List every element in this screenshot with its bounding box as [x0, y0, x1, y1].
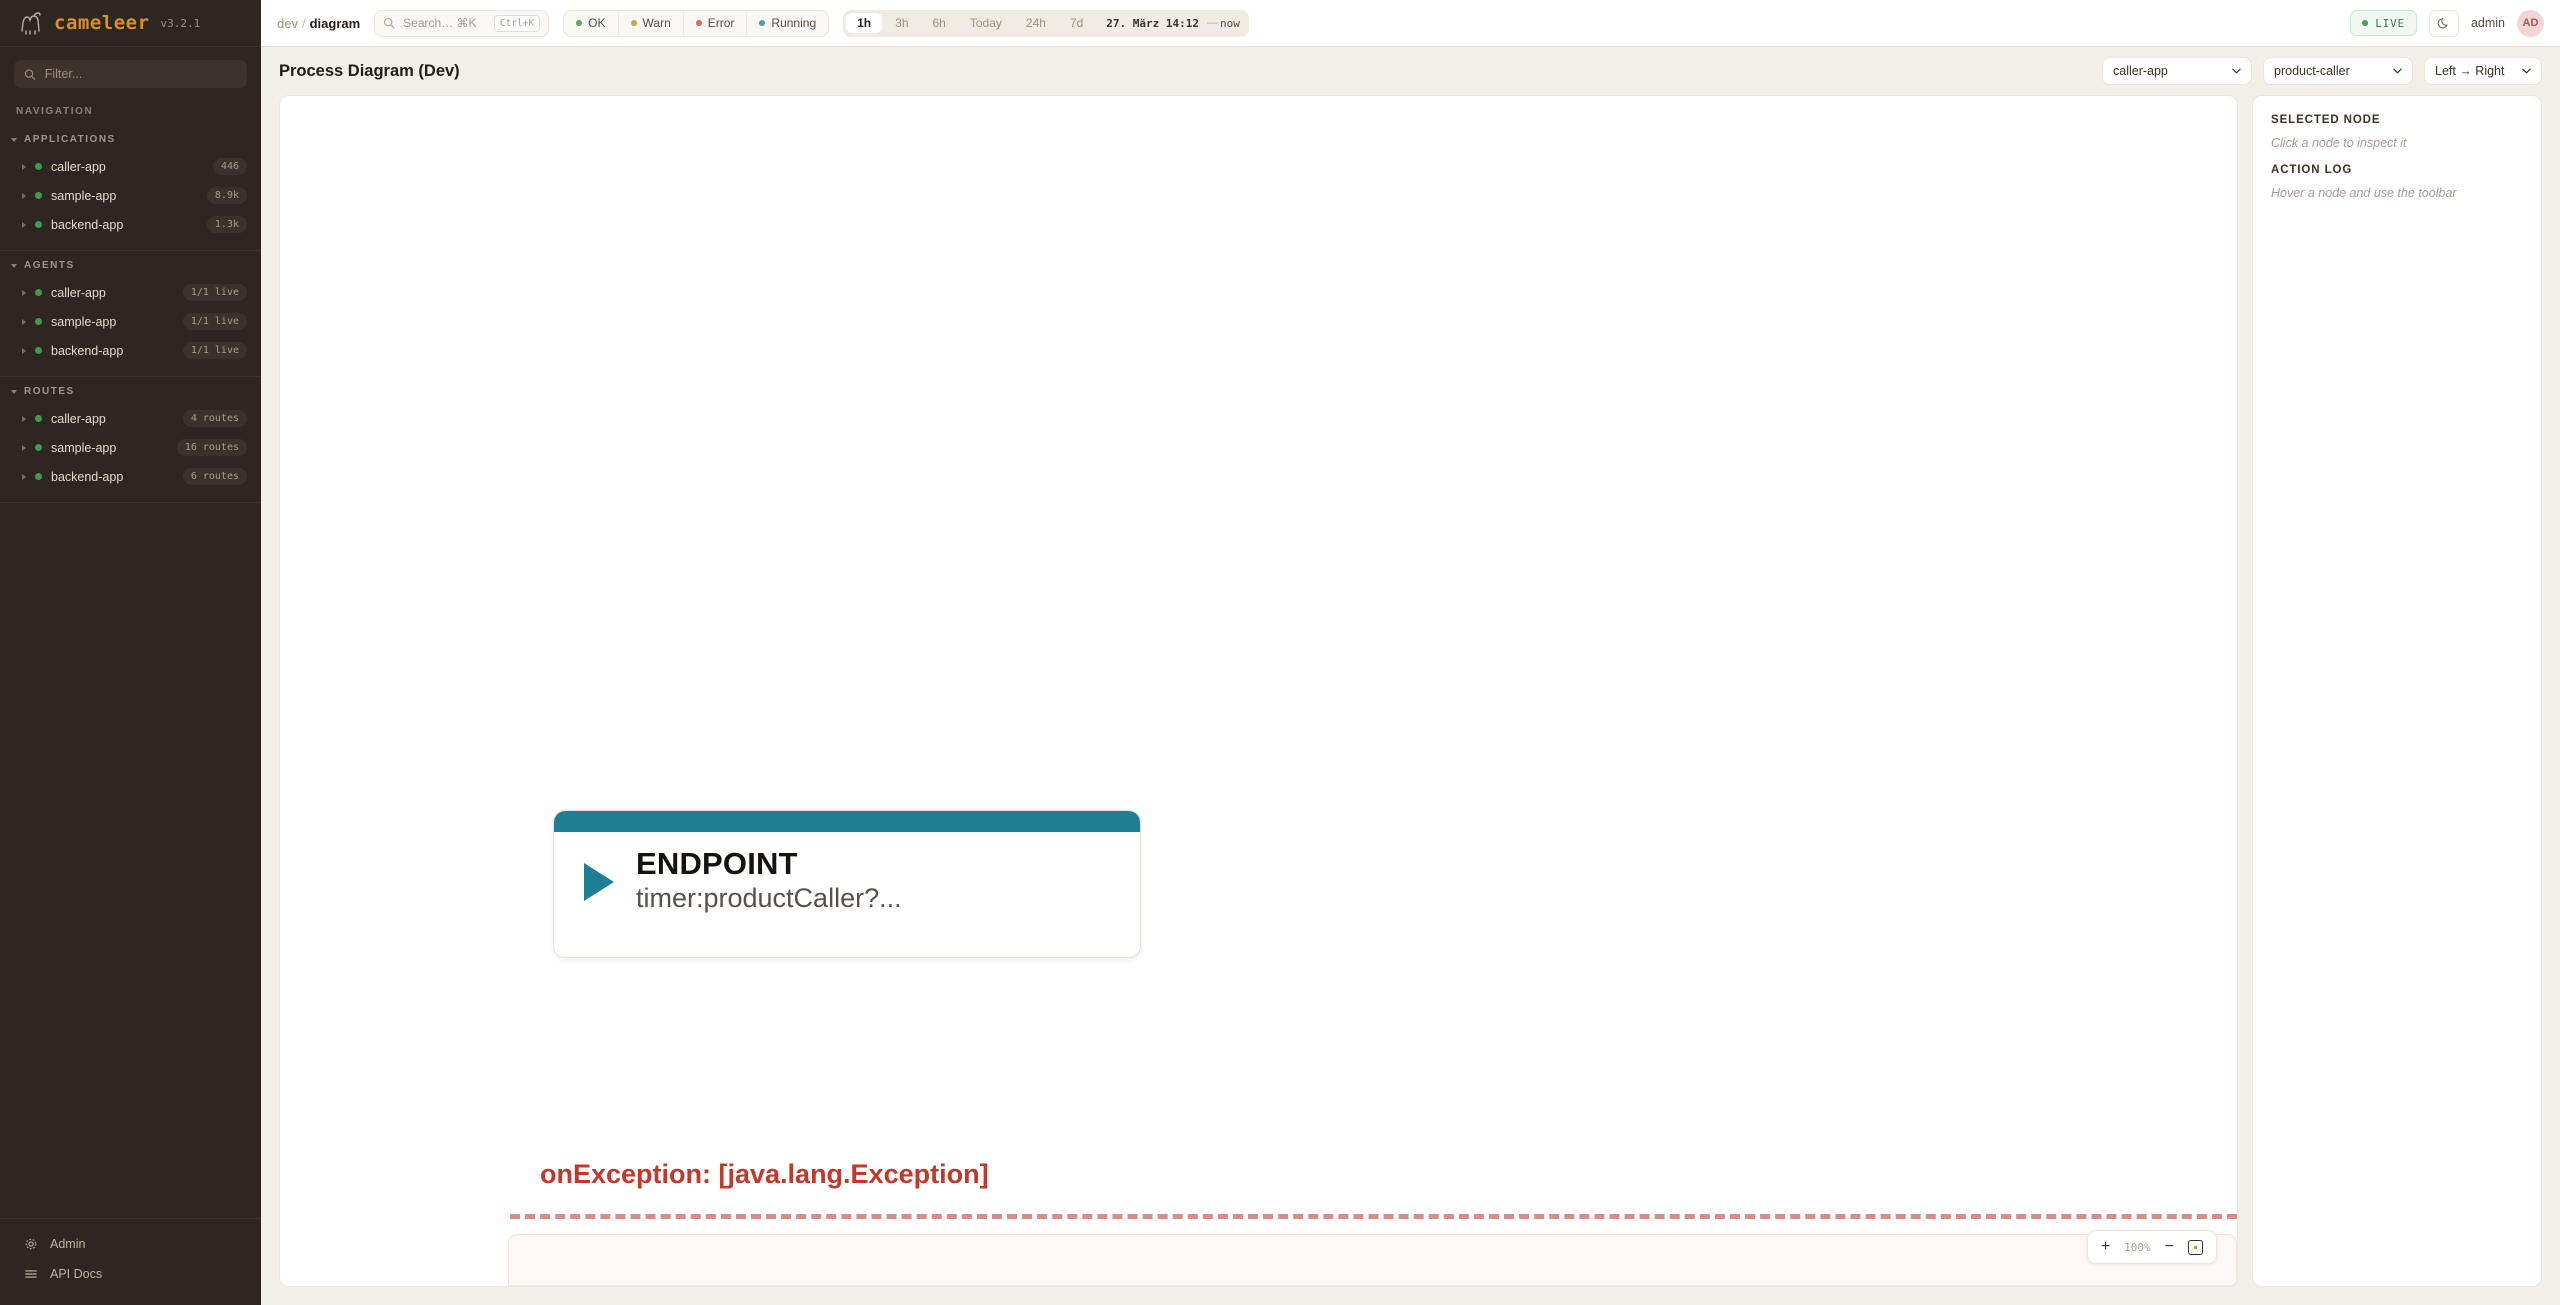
- status-dot: [35, 289, 42, 296]
- time-range-dash: —: [1207, 17, 1218, 29]
- select-value: product-caller: [2274, 64, 2350, 78]
- sidebar-item-label: sample-app: [51, 441, 168, 455]
- chevron-down-icon: [11, 264, 17, 268]
- sidebar-item-badge: 1/1 live: [183, 284, 247, 301]
- node-kind-label: ENDPOINT: [636, 846, 902, 882]
- breadcrumb-current: diagram: [310, 16, 361, 31]
- sidebar-item-agents-caller-app[interactable]: caller-app 1/1 live: [0, 278, 261, 307]
- search-shortcut-kbd: Ctrl+K: [494, 15, 540, 32]
- sidebar-item-routes-backend-app[interactable]: backend-app 6 routes: [0, 462, 261, 491]
- status-label: Warn: [643, 16, 671, 30]
- selected-node-hint: Click a node to inspect it: [2271, 136, 2523, 150]
- status-filter-warn[interactable]: Warn: [619, 11, 684, 36]
- sidebar-item-admin[interactable]: Admin: [0, 1229, 261, 1259]
- live-label: LIVE: [2375, 17, 2405, 30]
- filter-input[interactable]: [45, 67, 237, 81]
- chevron-right-icon: [22, 445, 26, 451]
- status-dot: [35, 415, 42, 422]
- page-title: Process Diagram (Dev): [279, 62, 460, 81]
- sidebar-footer: Admin API Docs: [0, 1218, 261, 1305]
- topbar-right: LIVE admin AD: [2350, 10, 2544, 37]
- sidebar-item-badge: 8.9k: [207, 187, 247, 204]
- status-dot: [35, 163, 42, 170]
- action-log-title: ACTION LOG: [2271, 164, 2523, 176]
- nav-caption: NAVIGATION: [0, 98, 261, 125]
- chevron-down-icon: [2232, 68, 2241, 74]
- sidebar-item-api-docs[interactable]: API Docs: [0, 1259, 261, 1289]
- status-dot: [35, 221, 42, 228]
- status-filter-error[interactable]: Error: [684, 11, 748, 36]
- group-title: ROUTES: [24, 386, 75, 397]
- chevron-right-icon: [22, 164, 26, 170]
- main-area: dev / diagram Search… ⌘K Ctrl+K OK: [261, 0, 2560, 1305]
- diagram-node-endpoint[interactable]: ENDPOINT timer:productCaller?...: [553, 810, 1141, 958]
- filter-box[interactable]: [14, 60, 247, 88]
- fit-to-screen-icon[interactable]: [2188, 1240, 2203, 1255]
- group-header-agents[interactable]: AGENTS: [0, 251, 261, 278]
- sidebar-item-label: caller-app: [51, 160, 204, 174]
- sidebar-item-agents-sample-app[interactable]: sample-app 1/1 live: [0, 307, 261, 336]
- search-box[interactable]: Search… ⌘K Ctrl+K: [374, 10, 549, 37]
- sidebar-item-label: sample-app: [51, 315, 174, 329]
- chevron-right-icon: [22, 290, 26, 296]
- brand-name: cameleer: [54, 12, 150, 34]
- sidebar-item-label: backend-app: [51, 344, 174, 358]
- moon-icon: [2437, 16, 2451, 30]
- exception-zone: [508, 1234, 2237, 1286]
- chevron-down-icon: [2393, 68, 2402, 74]
- select-value: Left → Right: [2435, 64, 2504, 78]
- sidebar-item-badge: 6 routes: [183, 468, 247, 485]
- group-header-routes[interactable]: ROUTES: [0, 377, 261, 404]
- status-dot: [35, 347, 42, 354]
- node-header-bar: [554, 811, 1140, 832]
- group-header-applications[interactable]: APPLICATIONS: [0, 125, 261, 152]
- chevron-right-icon: [22, 319, 26, 325]
- inspector-panel: SELECTED NODE Click a node to inspect it…: [2252, 95, 2542, 1287]
- status-dot: [35, 192, 42, 199]
- time-range-6h[interactable]: 6h: [922, 13, 957, 33]
- sidebar-item-label: backend-app: [51, 218, 198, 232]
- sidebar-item-routes-sample-app[interactable]: sample-app 16 routes: [0, 433, 261, 462]
- status-label: OK: [588, 16, 605, 30]
- status-dot: [35, 318, 42, 325]
- status-dot: [35, 444, 42, 451]
- status-dot: [759, 20, 765, 26]
- time-range-selector: 1h 3h 6h Today 24h 7d 27. März 14:12 — n…: [843, 10, 1249, 37]
- sidebar-item-badge: 1/1 live: [183, 342, 247, 359]
- chevron-down-icon: [11, 390, 17, 394]
- nav-group-agents: AGENTS caller-app 1/1 live sample-app 1/…: [0, 251, 261, 377]
- selected-node-title: SELECTED NODE: [2271, 114, 2523, 126]
- node-uri-label: timer:productCaller?...: [636, 882, 902, 916]
- breadcrumb-root[interactable]: dev: [277, 16, 298, 31]
- search-placeholder: Search… ⌘K: [403, 16, 486, 30]
- nav-group-applications: APPLICATIONS caller-app 446 sample-app 8…: [0, 125, 261, 251]
- page-toolbar-controls: caller-app product-caller Left → Right: [2102, 57, 2542, 85]
- sidebar-item-badge: 16 routes: [177, 439, 247, 456]
- topbar: dev / diagram Search… ⌘K Ctrl+K OK: [261, 0, 2560, 47]
- sidebar-item-routes-caller-app[interactable]: caller-app 4 routes: [0, 404, 261, 433]
- zoom-out-button[interactable]: −: [2165, 1239, 2174, 1255]
- time-range-7d[interactable]: 7d: [1059, 13, 1094, 33]
- content-area: ENDPOINT timer:productCaller?... onExcep…: [261, 95, 2560, 1305]
- status-dot: [2362, 20, 2368, 26]
- status-filter-group: OK Warn Error Running: [563, 10, 829, 37]
- status-dot: [35, 473, 42, 480]
- exception-divider: [510, 1214, 2237, 1219]
- brand[interactable]: cameleer v3.2.1: [0, 0, 261, 47]
- time-range-1h[interactable]: 1h: [846, 13, 882, 33]
- sidebar-item-label: caller-app: [51, 412, 174, 426]
- sidebar: cameleer v3.2.1 NAVIGATION APPLICATIONS: [0, 0, 261, 1305]
- group-title: AGENTS: [24, 260, 75, 271]
- breadcrumb: dev / diagram: [277, 16, 360, 31]
- time-range-24h[interactable]: 24h: [1015, 13, 1057, 33]
- chevron-right-icon: [22, 416, 26, 422]
- sidebar-item-label: backend-app: [51, 470, 174, 484]
- camel-icon: [18, 11, 44, 35]
- status-label: Error: [708, 16, 735, 30]
- sidebar-item-applications-caller-app[interactable]: caller-app 446: [0, 152, 261, 181]
- page-toolbar: Process Diagram (Dev) caller-app product…: [261, 47, 2560, 95]
- exception-label: onException: [java.lang.Exception]: [540, 1159, 989, 1190]
- live-status-badge[interactable]: LIVE: [2350, 10, 2417, 36]
- chevron-right-icon: [22, 193, 26, 199]
- status-dot: [631, 20, 637, 26]
- action-log-hint: Hover a node and use the toolbar: [2271, 186, 2523, 200]
- select-value: caller-app: [2113, 64, 2168, 78]
- chevron-right-icon: [22, 222, 26, 228]
- breadcrumb-separator: /: [302, 16, 306, 31]
- menu-icon: [24, 1267, 38, 1281]
- brand-version: v3.2.1: [161, 17, 201, 30]
- status-dot: [576, 20, 582, 26]
- node-body: ENDPOINT timer:productCaller?...: [554, 832, 1140, 915]
- sidebar-item-label: API Docs: [50, 1267, 102, 1281]
- play-icon: [584, 863, 614, 901]
- time-range-to: now: [1220, 17, 1246, 30]
- chevron-down-icon: [2522, 68, 2531, 74]
- time-range-from: 27. März 14:12: [1096, 17, 1205, 30]
- sidebar-item-agents-backend-app[interactable]: backend-app 1/1 live: [0, 336, 261, 365]
- diagram-canvas[interactable]: ENDPOINT timer:productCaller?... onExcep…: [279, 95, 2238, 1287]
- application-select[interactable]: caller-app: [2102, 57, 2252, 85]
- time-range-today[interactable]: Today: [959, 13, 1013, 33]
- avatar[interactable]: AD: [2517, 10, 2544, 37]
- search-icon: [383, 17, 395, 29]
- zoom-level-label: 100%: [2124, 1241, 2151, 1254]
- sidebar-item-applications-sample-app[interactable]: sample-app 8.9k: [0, 181, 261, 210]
- direction-select[interactable]: Left → Right: [2424, 57, 2542, 85]
- route-select[interactable]: product-caller: [2263, 57, 2413, 85]
- sidebar-item-applications-backend-app[interactable]: backend-app 1.3k: [0, 210, 261, 239]
- filter-section: [0, 47, 261, 98]
- chevron-down-icon: [11, 138, 17, 142]
- group-title: APPLICATIONS: [24, 134, 116, 145]
- zoom-controls: + 100% −: [2087, 1230, 2217, 1264]
- chevron-right-icon: [22, 348, 26, 354]
- nav-group-routes: ROUTES caller-app 4 routes sample-app 16…: [0, 377, 261, 503]
- sidebar-item-label: Admin: [50, 1237, 85, 1251]
- search-icon: [24, 68, 36, 81]
- app-root: cameleer v3.2.1 NAVIGATION APPLICATIONS: [0, 0, 2560, 1305]
- zoom-in-button[interactable]: +: [2101, 1239, 2110, 1255]
- gear-icon: [24, 1237, 38, 1251]
- sidebar-item-label: sample-app: [51, 189, 198, 203]
- sidebar-item-label: caller-app: [51, 286, 174, 300]
- chevron-right-icon: [22, 474, 26, 480]
- status-label: Running: [771, 16, 816, 30]
- status-dot: [696, 20, 702, 26]
- theme-toggle-button[interactable]: [2429, 10, 2459, 37]
- sidebar-item-badge: 446: [213, 158, 247, 175]
- sidebar-item-badge: 1.3k: [207, 216, 247, 233]
- sidebar-item-badge: 1/1 live: [183, 313, 247, 330]
- status-filter-running[interactable]: Running: [747, 11, 828, 36]
- user-name: admin: [2471, 16, 2505, 30]
- sidebar-item-badge: 4 routes: [183, 410, 247, 427]
- time-range-3h[interactable]: 3h: [884, 13, 919, 33]
- status-filter-ok[interactable]: OK: [564, 11, 618, 36]
